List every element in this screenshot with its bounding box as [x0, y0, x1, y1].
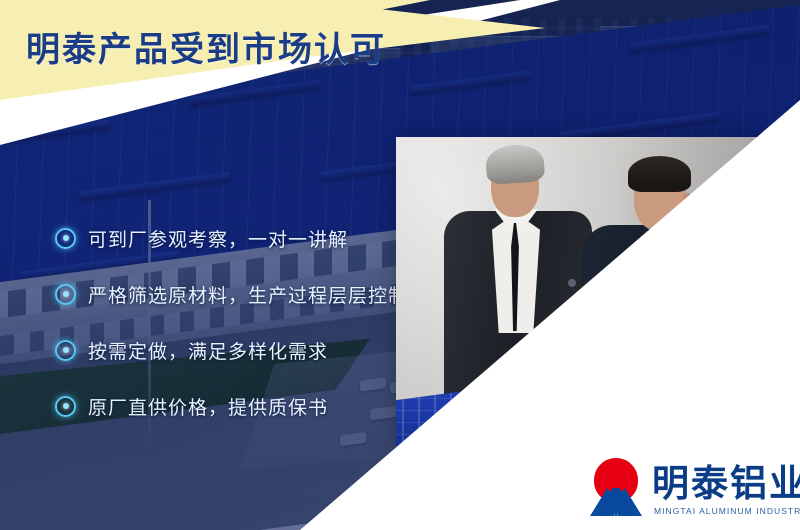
- page-title: 明泰产品受到市场认可: [26, 22, 386, 71]
- mingtai-sun-mountain-icon: [588, 458, 644, 516]
- list-item: 按需定做，满足多样化需求: [55, 322, 405, 378]
- brand-text: 明泰铝业 MINGTAI ALUMINUM INDUSTRY CO., LTD: [652, 465, 800, 516]
- list-item: 原厂直供价格，提供质保书: [55, 378, 405, 434]
- brand-logo: 明泰铝业 MINGTAI ALUMINUM INDUSTRY CO., LTD: [588, 458, 800, 516]
- lapel-pin: [568, 279, 576, 287]
- feature-label: 严格筛选原材料，生产过程层层控制: [88, 281, 408, 308]
- business-people-photo: [396, 137, 763, 447]
- hair: [628, 156, 691, 192]
- promo-banner: 明泰产品受到市场认可 可到厂参观考察，一对一讲解 严格筛选原材料，生产过程层层控…: [0, 0, 800, 530]
- ear: [683, 193, 692, 207]
- target-bullet-icon: [55, 228, 76, 249]
- target-bullet-icon: [55, 340, 76, 361]
- feature-label: 可到厂参观考察，一对一讲解: [88, 225, 348, 252]
- brand-name-en: MINGTAI ALUMINUM INDUSTRY CO., LTD: [654, 506, 800, 516]
- target-bullet-icon: [55, 284, 76, 305]
- mountain-crossbar: [606, 491, 626, 496]
- target-bullet-icon: [55, 396, 76, 417]
- feature-list: 可到厂参观考察，一对一讲解 严格筛选原材料，生产过程层层控制 按需定做，满足多样…: [55, 210, 405, 434]
- feature-label: 按需定做，满足多样化需求: [88, 337, 328, 364]
- list-item: 可到厂参观考察，一对一讲解: [55, 210, 405, 266]
- feature-label: 原厂直供价格，提供质保书: [88, 393, 328, 420]
- list-item: 严格筛选原材料，生产过程层层控制: [55, 266, 405, 322]
- brand-name-cn: 明泰铝业: [652, 465, 800, 503]
- hair-bun: [748, 197, 763, 217]
